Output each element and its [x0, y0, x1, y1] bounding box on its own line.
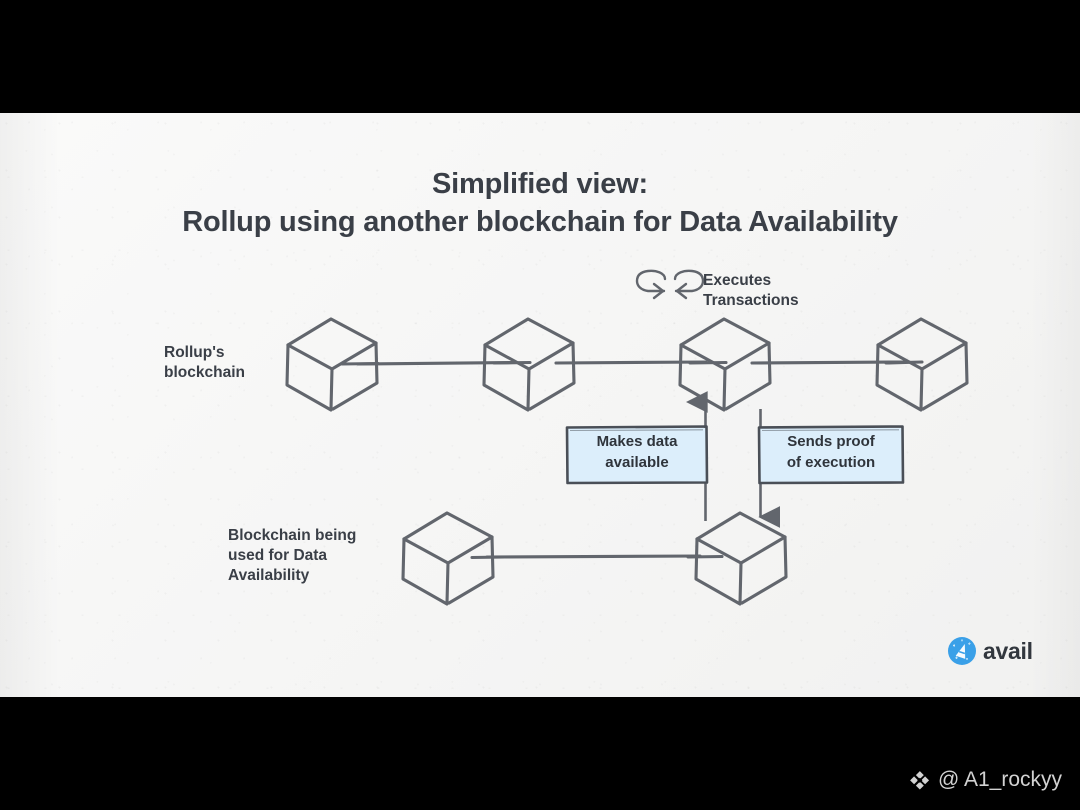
- rollup-chain-link-3: [752, 362, 905, 363]
- avail-logo-dots: [948, 637, 976, 665]
- callout-text-makes-data-available: Makes data available: [568, 431, 706, 473]
- title-line-2: Rollup using another blockchain for Data…: [0, 203, 1080, 241]
- watermark-handle: @ A1_rockyy: [938, 768, 1062, 792]
- stub-e: [472, 557, 505, 558]
- page-title: Simplified view: Rollup using another bl…: [0, 165, 1080, 241]
- stub-b: [494, 363, 530, 364]
- avail-logo: avail: [948, 637, 1033, 665]
- binance-diamond-icon: [909, 770, 930, 791]
- label-da-blockchain: Blockchain being used for Data Availabil…: [228, 526, 356, 586]
- avail-logo-text: avail: [983, 638, 1033, 665]
- da-block-2: [696, 513, 786, 604]
- avail-logo-icon: [948, 637, 976, 665]
- screenshot-root: Simplified view: Rollup using another bl…: [0, 0, 1080, 810]
- rollup-chain-link-2: [556, 362, 706, 363]
- stub-c: [690, 363, 726, 364]
- stub-a: [342, 364, 378, 365]
- title-line-1: Simplified view:: [0, 165, 1080, 203]
- da-chain-link-1: [487, 556, 700, 557]
- rollup-block-4: [877, 319, 967, 410]
- label-executes-transactions: Executes Transactions: [703, 271, 799, 311]
- loop-arrows-icon: [637, 271, 703, 298]
- slide-canvas: Simplified view: Rollup using another bl…: [0, 113, 1080, 697]
- callout-text-sends-proof: Sends proof of execution: [760, 431, 902, 473]
- label-rollup-blockchain: Rollup's blockchain: [164, 343, 245, 383]
- stub-f: [688, 557, 722, 558]
- stub-d: [886, 362, 922, 363]
- watermark: @ A1_rockyy: [909, 768, 1062, 792]
- rollup-chain-link-1: [358, 363, 512, 365]
